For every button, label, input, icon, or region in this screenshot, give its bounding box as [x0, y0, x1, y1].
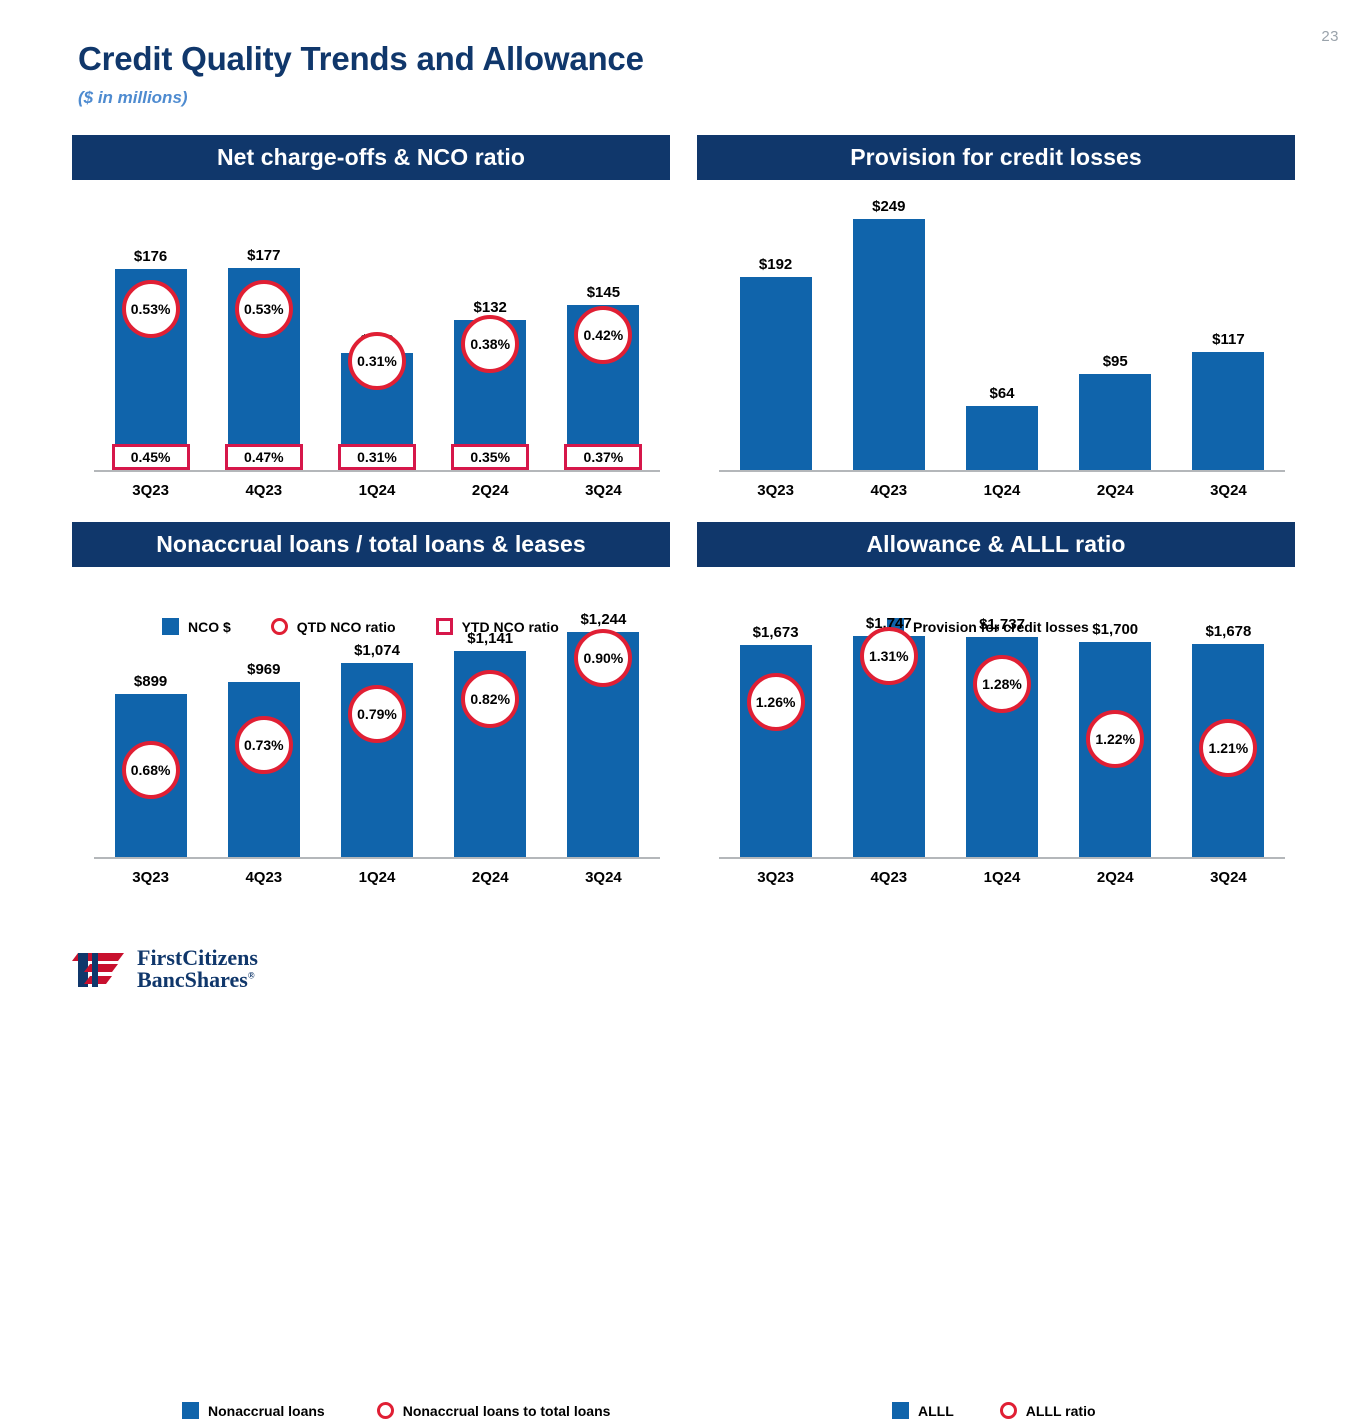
first-citizens-mark-icon: [72, 947, 128, 991]
legend-label: ALLL: [918, 1403, 954, 1419]
bar: [966, 406, 1038, 470]
ytd-ratio-box: 0.47%: [225, 444, 303, 470]
bar-slot: $95: [1059, 180, 1172, 470]
bar-slot: $1,1410.82%: [434, 567, 547, 857]
legend-nonaccrual: Nonaccrual loansNonaccrual loans to tota…: [182, 1402, 610, 1419]
legend-label: ALLL ratio: [1026, 1403, 1096, 1419]
ratio-bubble: 0.73%: [235, 716, 293, 774]
axis-line: [94, 470, 660, 472]
bar-group: $1,6731.26%$1,7471.31%$1,7371.28%$1,7001…: [719, 567, 1285, 857]
legend-label: Nonaccrual loans to total loans: [403, 1403, 611, 1419]
page-title: Credit Quality Trends and Allowance: [78, 40, 644, 78]
bar-value-label: $1,141: [467, 630, 513, 647]
bar-value-label: $1,244: [580, 611, 626, 628]
category-label: 2Q24: [1059, 869, 1172, 886]
bar: 1.21%: [1192, 644, 1264, 857]
bar: 0.53%0.45%: [115, 269, 187, 470]
ytd-ratio-box: 0.45%: [112, 444, 190, 470]
bar-slot: $1,7371.28%: [945, 567, 1058, 857]
legend-item[interactable]: ALLL ratio: [1000, 1402, 1096, 1419]
ratio-bubble: 0.42%: [574, 306, 632, 364]
category-label: 4Q23: [207, 869, 320, 886]
category-label: 4Q23: [832, 482, 945, 499]
legend-allowance: ALLLALLL ratio: [892, 1402, 1096, 1419]
legend-item[interactable]: Nonaccrual loans to total loans: [377, 1402, 611, 1419]
bar-slot: $1030.31%0.31%: [320, 180, 433, 470]
bar: [740, 277, 812, 470]
category-labels: 3Q234Q231Q242Q243Q24: [719, 869, 1285, 886]
ratio-bubble: 0.53%: [122, 280, 180, 338]
ratio-bubble: 0.38%: [461, 315, 519, 373]
bar: [1192, 352, 1264, 470]
bar-value-label: $117: [1212, 331, 1245, 348]
bar: 0.31%0.31%: [341, 353, 413, 470]
bar: 1.28%: [966, 637, 1038, 857]
category-label: 3Q23: [719, 869, 832, 886]
logo-wordmark: FirstCitizens BancShares®: [137, 947, 258, 992]
bar: 0.42%0.37%: [567, 305, 639, 470]
bar-value-label: $176: [134, 248, 167, 265]
bar: 1.31%: [853, 636, 925, 857]
panel-title-nonaccrual: Nonaccrual loans / total loans & leases: [72, 522, 670, 567]
category-label: 3Q23: [94, 482, 207, 499]
panel-net-charge-offs: Net charge-offs & NCO ratio $1760.53%0.4…: [72, 135, 670, 480]
chart-net-charge-offs: $1760.53%0.45%$1770.53%0.47%$1030.31%0.3…: [72, 180, 670, 480]
category-labels: 3Q234Q231Q242Q243Q24: [719, 482, 1285, 499]
category-label: 3Q24: [547, 482, 660, 499]
category-label: 3Q24: [1172, 869, 1285, 886]
chart-allowance: $1,6731.26%$1,7471.31%$1,7371.28%$1,7001…: [697, 567, 1295, 867]
bar: 0.38%0.35%: [454, 320, 526, 470]
chart-provision: $192$249$64$95$117 3Q234Q231Q242Q243Q24: [697, 180, 1295, 480]
page-number: 23: [1321, 28, 1339, 45]
category-label: 2Q24: [434, 482, 547, 499]
bar-value-label: $249: [872, 198, 905, 215]
ytd-ratio-box: 0.37%: [564, 444, 642, 470]
axis-line: [719, 857, 1285, 859]
bar-value-label: $132: [474, 299, 507, 316]
panel-title-net-charge-offs: Net charge-offs & NCO ratio: [72, 135, 670, 180]
bar-slot: $8990.68%: [94, 567, 207, 857]
bar: 1.26%: [740, 645, 812, 857]
bar: 0.68%: [115, 694, 187, 857]
bar-group: $8990.68%$9690.73%$1,0740.79%$1,1410.82%…: [94, 567, 660, 857]
category-labels: 3Q234Q231Q242Q243Q24: [94, 482, 660, 499]
ratio-bubble: 1.26%: [747, 673, 805, 731]
panel-provision: Provision for credit losses $192$249$64$…: [697, 135, 1295, 480]
category-labels: 3Q234Q231Q242Q243Q24: [94, 869, 660, 886]
bar-slot: $117: [1172, 180, 1285, 470]
ratio-bubble: 0.31%: [348, 332, 406, 390]
category-label: 2Q24: [434, 869, 547, 886]
bar-slot: $249: [832, 180, 945, 470]
bar: 0.82%: [454, 651, 526, 857]
category-label: 3Q24: [1172, 482, 1285, 499]
axis-line: [94, 857, 660, 859]
bar-slot: $1,2440.90%: [547, 567, 660, 857]
category-label: 1Q24: [945, 869, 1058, 886]
bar-value-label: $899: [134, 673, 167, 690]
ratio-bubble: 0.90%: [574, 629, 632, 687]
legend-square-icon: [182, 1402, 199, 1419]
logo-line-2: BancShares®: [137, 969, 258, 992]
legend-label: Nonaccrual loans: [208, 1403, 325, 1419]
category-label: 2Q24: [1059, 482, 1172, 499]
chart-nonaccrual: $8990.68%$9690.73%$1,0740.79%$1,1410.82%…: [72, 567, 670, 867]
category-label: 4Q23: [207, 482, 320, 499]
ytd-ratio-box: 0.31%: [338, 444, 416, 470]
bar-slot: $1320.38%0.35%: [434, 180, 547, 470]
bar-slot: $9690.73%: [207, 567, 320, 857]
category-label: 3Q24: [547, 869, 660, 886]
bar-slot: $192: [719, 180, 832, 470]
ytd-ratio-box: 0.35%: [451, 444, 529, 470]
ratio-bubble: 0.79%: [348, 685, 406, 743]
category-label: 1Q24: [320, 869, 433, 886]
ratio-bubble: 1.31%: [860, 627, 918, 685]
bar-value-label: $1,700: [1092, 621, 1138, 638]
panel-nonaccrual: Nonaccrual loans / total loans & leases …: [72, 522, 670, 867]
bar-slot: $1,7471.31%: [832, 567, 945, 857]
bar: 0.79%: [341, 663, 413, 857]
bar: [853, 219, 925, 470]
category-label: 3Q23: [719, 482, 832, 499]
axis-line: [719, 470, 1285, 472]
bar-value-label: $1,673: [753, 624, 799, 641]
bar: 0.53%0.47%: [228, 268, 300, 470]
ratio-bubble: 1.28%: [973, 655, 1031, 713]
company-logo: FirstCitizens BancShares®: [72, 947, 258, 992]
bar-slot: $1450.42%0.37%: [547, 180, 660, 470]
bar-value-label: $969: [247, 661, 280, 678]
bar-value-label: $95: [1103, 353, 1128, 370]
logo-line-1: FirstCitizens: [137, 947, 258, 970]
bar-value-label: $192: [759, 256, 792, 273]
legend-square-icon: [892, 1402, 909, 1419]
ratio-bubble: 0.82%: [461, 670, 519, 728]
ratio-bubble: 0.53%: [235, 280, 293, 338]
page-subtitle: ($ in millions): [78, 88, 188, 108]
legend-circle-icon: [1000, 1402, 1017, 1419]
bar: 1.22%: [1079, 642, 1151, 857]
ratio-bubble: 1.22%: [1086, 710, 1144, 768]
bar-slot: $64: [945, 180, 1058, 470]
bar-value-label: $1,737: [979, 616, 1025, 633]
bar: 0.90%: [567, 632, 639, 857]
category-label: 1Q24: [945, 482, 1058, 499]
category-label: 4Q23: [832, 869, 945, 886]
bar-slot: $1760.53%0.45%: [94, 180, 207, 470]
bar: 0.73%: [228, 682, 300, 857]
category-label: 3Q23: [94, 869, 207, 886]
panel-title-provision: Provision for credit losses: [697, 135, 1295, 180]
ratio-bubble: 0.68%: [122, 741, 180, 799]
bar-group: $1760.53%0.45%$1770.53%0.47%$1030.31%0.3…: [94, 180, 660, 470]
bar-value-label: $1,678: [1205, 623, 1251, 640]
bar-slot: $1,6731.26%: [719, 567, 832, 857]
legend-item[interactable]: ALLL: [892, 1402, 954, 1419]
bar-value-label: $1,074: [354, 642, 400, 659]
bar-group: $192$249$64$95$117: [719, 180, 1285, 470]
panel-title-allowance: Allowance & ALLL ratio: [697, 522, 1295, 567]
ratio-bubble: 1.21%: [1199, 719, 1257, 777]
legend-item[interactable]: Nonaccrual loans: [182, 1402, 325, 1419]
bar-value-label: $64: [989, 385, 1014, 402]
bar-value-label: $145: [587, 284, 620, 301]
bar-slot: $1,0740.79%: [320, 567, 433, 857]
bar-slot: $1770.53%0.47%: [207, 180, 320, 470]
bar: [1079, 374, 1151, 470]
category-label: 1Q24: [320, 482, 433, 499]
panel-allowance: Allowance & ALLL ratio $1,6731.26%$1,747…: [697, 522, 1295, 867]
bar-slot: $1,6781.21%: [1172, 567, 1285, 857]
bar-slot: $1,7001.22%: [1059, 567, 1172, 857]
bar-value-label: $177: [247, 247, 280, 264]
legend-circle-icon: [377, 1402, 394, 1419]
